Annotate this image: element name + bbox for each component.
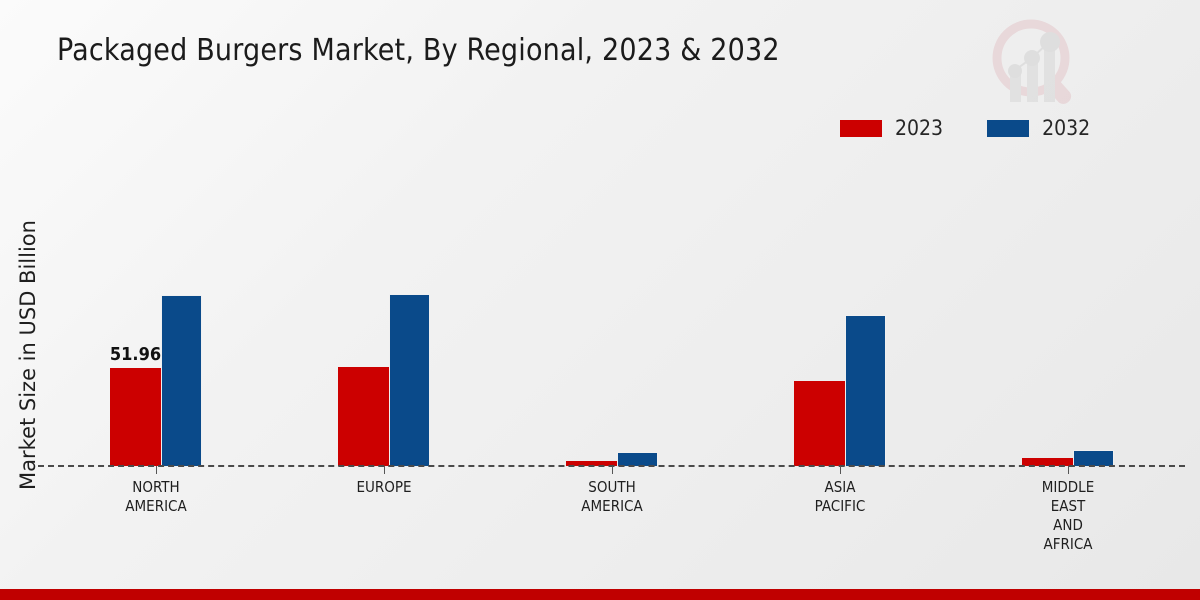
bar-2032-asia-pacific[interactable]	[845, 315, 886, 466]
bar-2032-south-america[interactable]	[617, 452, 658, 466]
x-axis-label-south-america: SOUTH AMERICA	[581, 478, 642, 516]
bar-2023-north-america[interactable]: 51.96	[110, 368, 161, 466]
bar-group-north-america: 51.96	[110, 160, 202, 466]
x-axis-tick-asia-pacific	[840, 466, 841, 474]
market-research-logo-watermark-icon	[985, 12, 1090, 112]
chart-container: Packaged Burgers Market, By Regional, 20…	[0, 0, 1200, 600]
y-axis-title: Market Size in USD Billion	[16, 175, 40, 535]
x-axis-label-north-america: NORTH AMERICA	[125, 478, 186, 516]
bar-group-middle-east-and-africa	[1022, 160, 1114, 466]
legend-swatch-2023	[840, 120, 882, 137]
legend-item-2023[interactable]: 2023	[840, 118, 943, 139]
bar-2032-europe[interactable]	[389, 294, 430, 466]
bar-2023-asia-pacific[interactable]	[794, 381, 845, 466]
legend-label-2023: 2023	[895, 118, 943, 139]
bar-2032-middle-east-and-africa[interactable]	[1073, 450, 1114, 466]
x-axis-label-middle-east-and-africa: MIDDLE EAST AND AFRICA	[1042, 478, 1094, 554]
footer-accent-bar	[0, 589, 1200, 600]
bar-group-asia-pacific	[794, 160, 886, 466]
plot-area: 51.96	[38, 160, 1200, 466]
chart-title: Packaged Burgers Market, By Regional, 20…	[57, 33, 780, 68]
x-axis-label-asia-pacific: ASIA PACIFIC	[815, 478, 866, 516]
bar-group-europe	[338, 160, 430, 466]
chart-legend: 2023 2032	[840, 118, 1090, 139]
x-axis-label-europe: EUROPE	[356, 478, 411, 497]
bar-2023-europe[interactable]	[338, 367, 389, 466]
legend-swatch-2032	[987, 120, 1029, 137]
x-axis-tick-south-america	[612, 466, 613, 474]
bar-2032-north-america[interactable]	[161, 295, 202, 466]
x-axis-tick-europe	[384, 466, 385, 474]
x-axis-tick-north-america	[156, 466, 157, 474]
x-axis-tick-middle-east-and-africa	[1068, 466, 1069, 474]
legend-item-2032[interactable]: 2032	[987, 118, 1090, 139]
legend-label-2032: 2032	[1042, 118, 1090, 139]
bar-value-label-north-america-2023: 51.96	[110, 344, 161, 365]
bar-group-south-america	[566, 160, 658, 466]
